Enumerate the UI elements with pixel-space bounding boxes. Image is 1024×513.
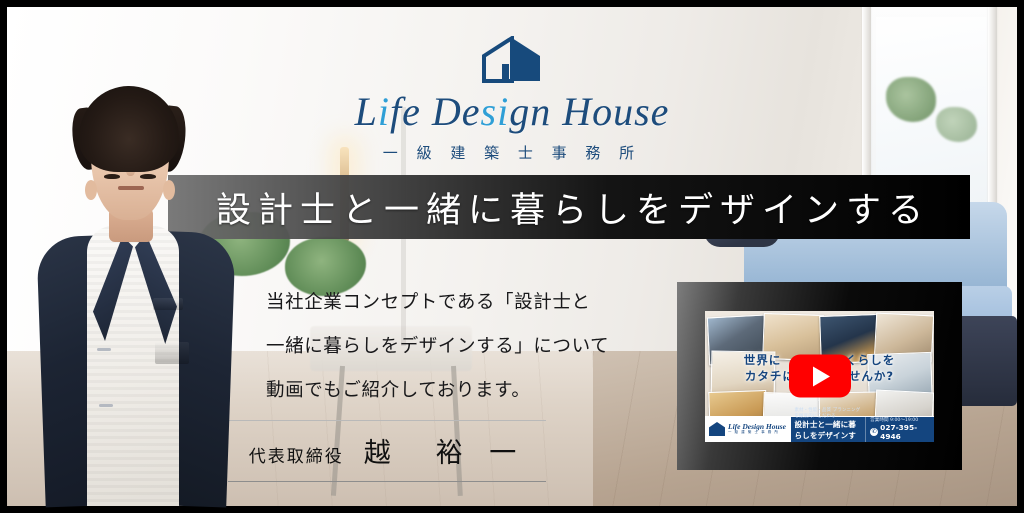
logo-wordmark-part: L [355,89,378,134]
thumbnail-headline-left: 世界に [744,353,782,367]
signature-role: 代表取締役 [249,442,344,467]
thumbnail-tagline: 素材・性能・品質 プランニングを徹底的にこだわる 設計士と一緒に暮らしをデザイン… [791,417,865,442]
headline-text: 設計士と一緒に暮らしをデザインする [216,182,930,233]
portrait-photo [35,86,245,506]
thumbnail-headline-right: くらしを [845,353,895,367]
logo-wordmark-part: s [480,89,497,134]
ear-left [85,180,97,200]
phone-number-text: 027-395-4946 [880,423,932,441]
lede-line: 動画でもご紹介しております。 [266,369,666,413]
thumbnail-logo-text: Life Design House 一 級 建 築 士 事 務 所 [728,423,786,436]
eye-left [104,174,120,179]
house-logo-icon [709,422,725,436]
lede-line: 一緒に暮らしをデザインする」について [266,325,666,369]
thumbnail-logo: Life Design House 一 級 建 築 士 事 務 所 [705,417,791,442]
hero-banner: Life Design House 一 級 建 築 士 事 務 所 設計士と一緒… [0,0,1024,513]
play-triangle-icon [813,366,830,386]
play-button[interactable] [789,355,851,398]
inner-shirt [87,226,179,506]
ear-right [163,180,175,200]
thumbnail-contact: 営業時間 9:00〜19:00 ✆ 027-395-4946 [865,417,934,442]
lede-line: 当社企業コンセプトである「設計士と [266,281,666,325]
video-thumbnail[interactable]: 世界に くらしを カタチに せんか? Life Design House [705,311,934,442]
signature-row: 代表取締役 越 裕 一 [228,421,546,480]
signature-block: 代表取締役 越 裕 一 [228,420,546,482]
headline-bar: 設計士と一緒に暮らしをデザインする [168,175,970,239]
logo-wordmark-part: i [378,89,390,134]
jacket-flap-pocket [155,342,189,364]
thumbnail-tagline-main: 設計士と一緒に暮らしをデザインする [794,419,862,442]
logo-wordmark-part: gn House [509,89,669,134]
thumbnail-tagline-small: 素材・性能・品質 プランニングを徹底的にこだわる [794,407,862,419]
thumbnail-logo-sub: 一 級 建 築 士 事 務 所 [728,431,786,435]
phone-icon: ✆ [870,428,878,436]
thumbnail-headline-right: せんか? [849,369,894,383]
thumbnail-footer-bar: Life Design House 一 級 建 築 士 事 務 所 素材・性能・… [705,416,934,442]
hair-top [79,86,179,172]
house-logo-icon [482,36,542,84]
jacket-button [97,348,111,351]
signature-given-name: 裕 一 [436,431,526,470]
eye-right [140,174,156,179]
jacket-button [99,404,113,407]
video-player[interactable]: 世界に くらしを カタチに せんか? Life Design House [677,282,962,470]
signature-family-name: 越 [364,431,394,470]
logo-wordmark-part: i [497,89,509,134]
phone-number: ✆ 027-395-4946 [870,423,932,441]
signature-rule-bottom [228,481,546,482]
logo-wordmark-part: fe De [390,89,481,134]
jacket-chest-pocket [153,298,183,310]
thumbnail-headline-left: カタチに [745,369,795,383]
mouth [118,186,144,190]
lede-paragraph: 当社企業コンセプトである「設計士と 一緒に暮らしをデザインする」について 動画で… [266,281,666,413]
